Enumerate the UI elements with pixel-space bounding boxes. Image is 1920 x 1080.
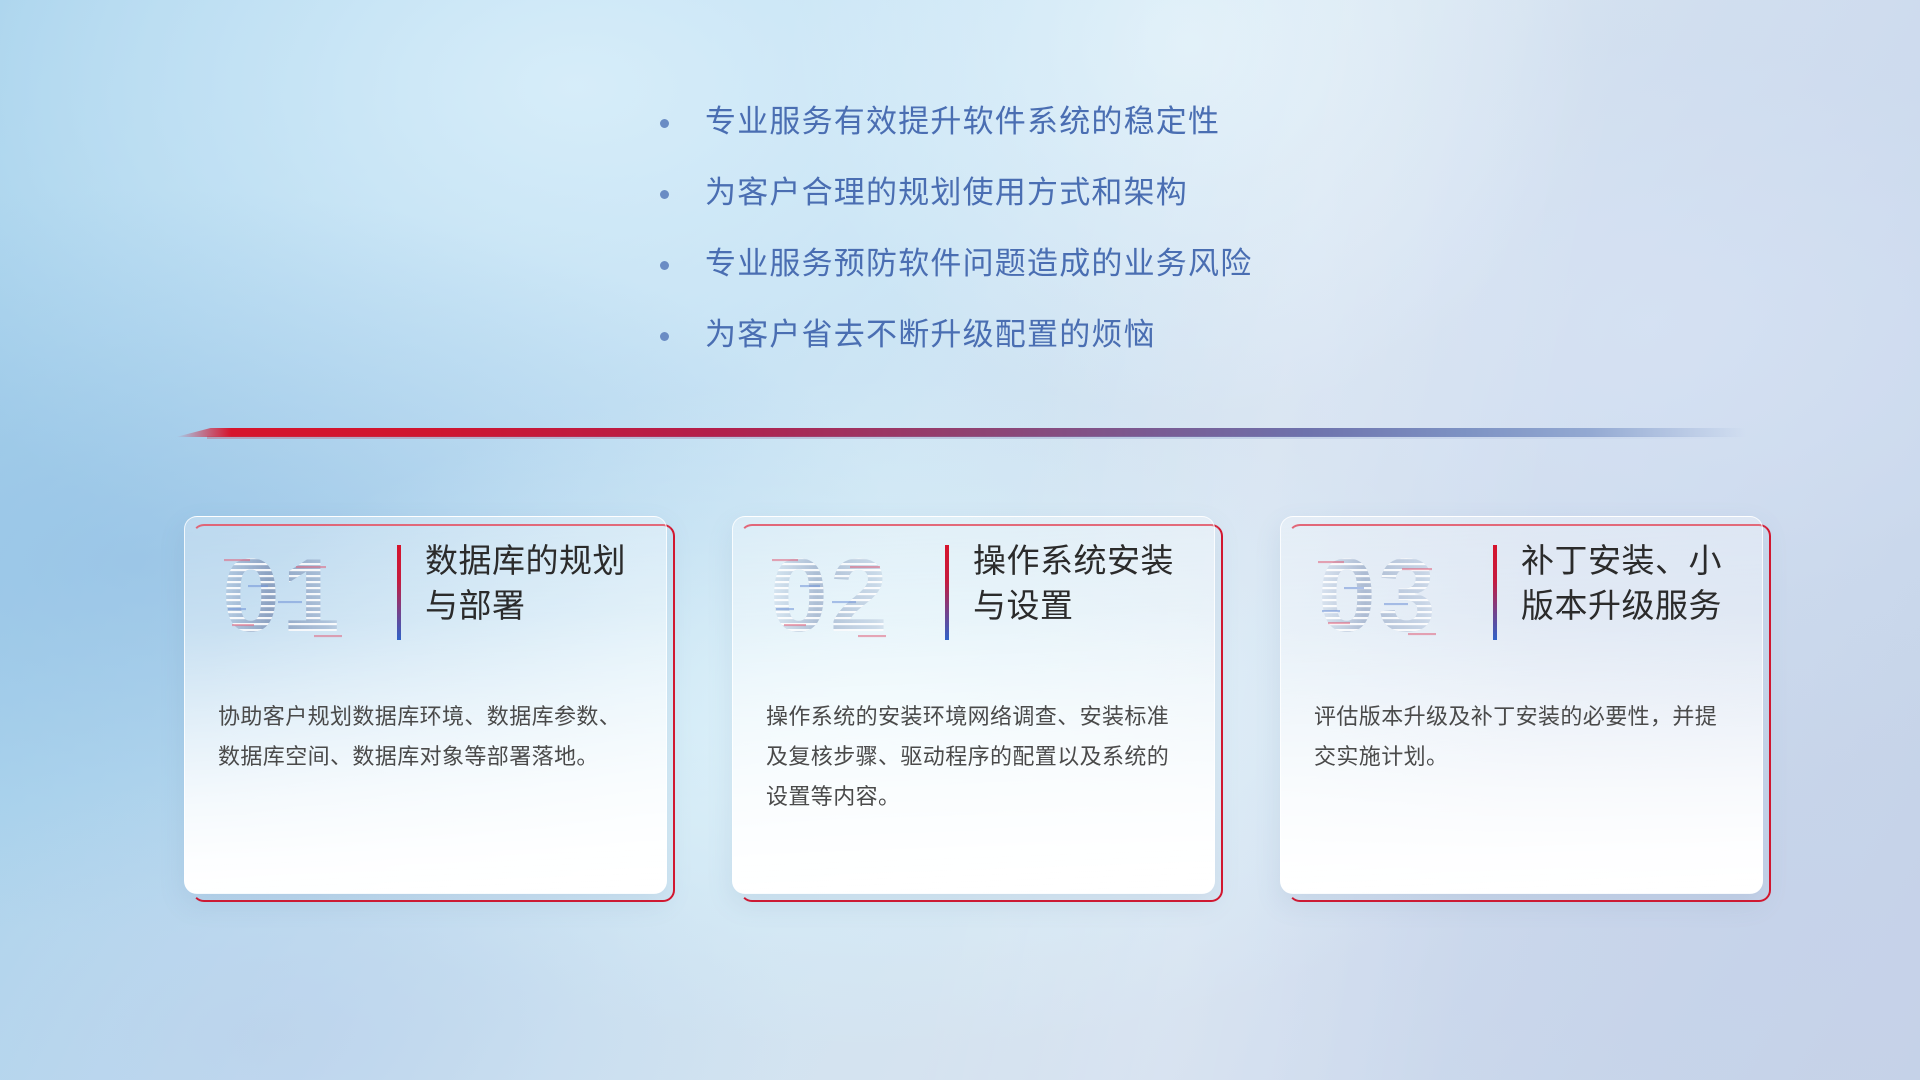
card-description: 协助客户规划数据库环境、数据库参数、数据库空间、数据库对象等部署落地。 [218, 697, 638, 777]
card-title-accent-bar [1493, 545, 1497, 640]
card-number-glitch-icon: 03 [1314, 539, 1460, 651]
card-number-glitch-icon: 02 [766, 539, 912, 651]
service-card-row: 01 [0, 516, 1920, 902]
bullet-text: 为客户省去不断升级配置的烦恼 [705, 313, 1156, 357]
bullet-text: 专业服务有效提升软件系统的稳定性 [705, 100, 1220, 144]
benefits-bullet-list: 专业服务有效提升软件系统的稳定性 为客户合理的规划使用方式和架构 专业服务预防软… [660, 100, 1560, 384]
bullet-item: 为客户合理的规划使用方式和架构 [660, 171, 1560, 215]
bullet-dot-icon [660, 190, 669, 199]
card-header: 03 [1281, 517, 1762, 667]
divider-secondary-line [207, 436, 1746, 439]
card-header: 02 [733, 517, 1214, 667]
bullet-dot-icon [660, 332, 669, 341]
card-header: 01 [185, 517, 666, 667]
card-title: 数据库的规划与部署 [425, 539, 655, 628]
card-surface: 02 [732, 516, 1215, 894]
card-title: 补丁安装、小版本升级服务 [1521, 539, 1751, 628]
card-title-accent-bar [397, 545, 401, 640]
service-card-02[interactable]: 02 [732, 516, 1223, 902]
card-title: 操作系统安装与设置 [973, 539, 1203, 628]
bullet-item: 为客户省去不断升级配置的烦恼 [660, 313, 1560, 357]
service-card-01[interactable]: 01 [184, 516, 675, 902]
card-surface: 03 [1280, 516, 1763, 894]
bullet-item: 专业服务有效提升软件系统的稳定性 [660, 100, 1560, 144]
service-card-03[interactable]: 03 [1280, 516, 1771, 902]
card-description: 评估版本升级及补丁安装的必要性，并提交实施计划。 [1314, 697, 1734, 777]
bullet-dot-icon [660, 119, 669, 128]
bullet-item: 专业服务预防软件问题造成的业务风险 [660, 242, 1560, 286]
card-description: 操作系统的安装环境网络调查、安装标准及复核步骤、驱动程序的配置以及系统的设置等内… [766, 697, 1186, 817]
bullet-text: 专业服务预防软件问题造成的业务风险 [705, 242, 1252, 286]
bullet-text: 为客户合理的规划使用方式和架构 [705, 171, 1188, 215]
card-surface: 01 [184, 516, 667, 894]
section-divider [176, 424, 1746, 440]
card-number-glitch-icon: 01 [218, 539, 364, 651]
card-title-accent-bar [945, 545, 949, 640]
bullet-dot-icon [660, 261, 669, 270]
